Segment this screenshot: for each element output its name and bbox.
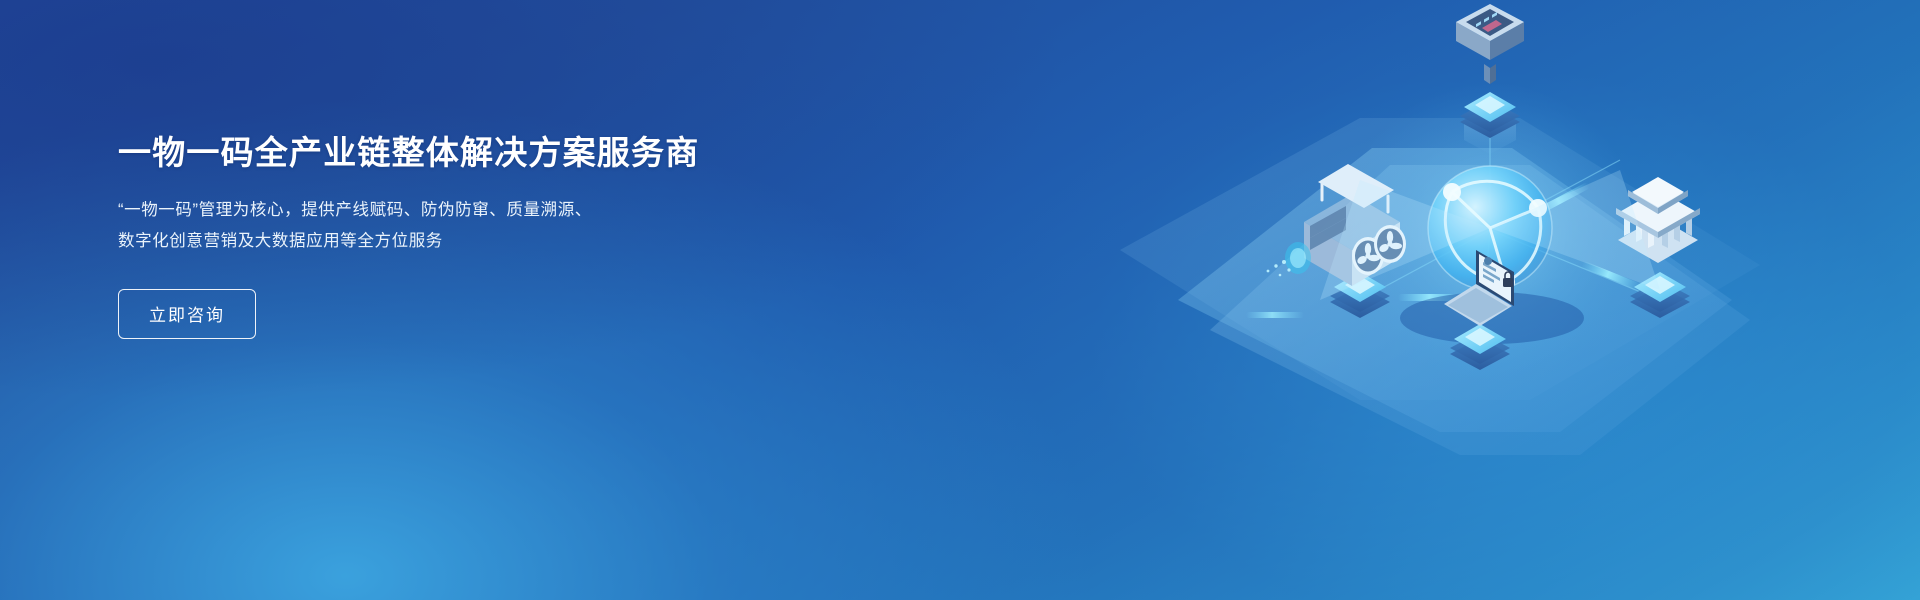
hero-banner: 一物一码全产业链整体解决方案服务商 “一物一码”管理为核心，提供产线赋码、防伪防…: [0, 0, 1920, 600]
subtitle-line-1: “一物一码”管理为核心，提供产线赋码、防伪防窜、质量溯源、: [118, 195, 818, 226]
cta-container: 立即咨询: [118, 289, 818, 339]
page-title: 一物一码全产业链整体解决方案服务商: [118, 132, 818, 173]
consult-now-button[interactable]: 立即咨询: [118, 289, 256, 339]
isometric-iot-network-illustration: [1060, 0, 1920, 600]
illustration-container: [1060, 0, 1920, 600]
banner-content: 一物一码全产业链整体解决方案服务商 “一物一码”管理为核心，提供产线赋码、防伪防…: [118, 132, 818, 339]
subtitle-line-2: 数字化创意营销及大数据应用等全方位服务: [118, 226, 818, 257]
banner-subtitle: “一物一码”管理为核心，提供产线赋码、防伪防窜、质量溯源、 数字化创意营销及大数…: [118, 195, 818, 257]
pos-terminal: [1456, 4, 1524, 154]
